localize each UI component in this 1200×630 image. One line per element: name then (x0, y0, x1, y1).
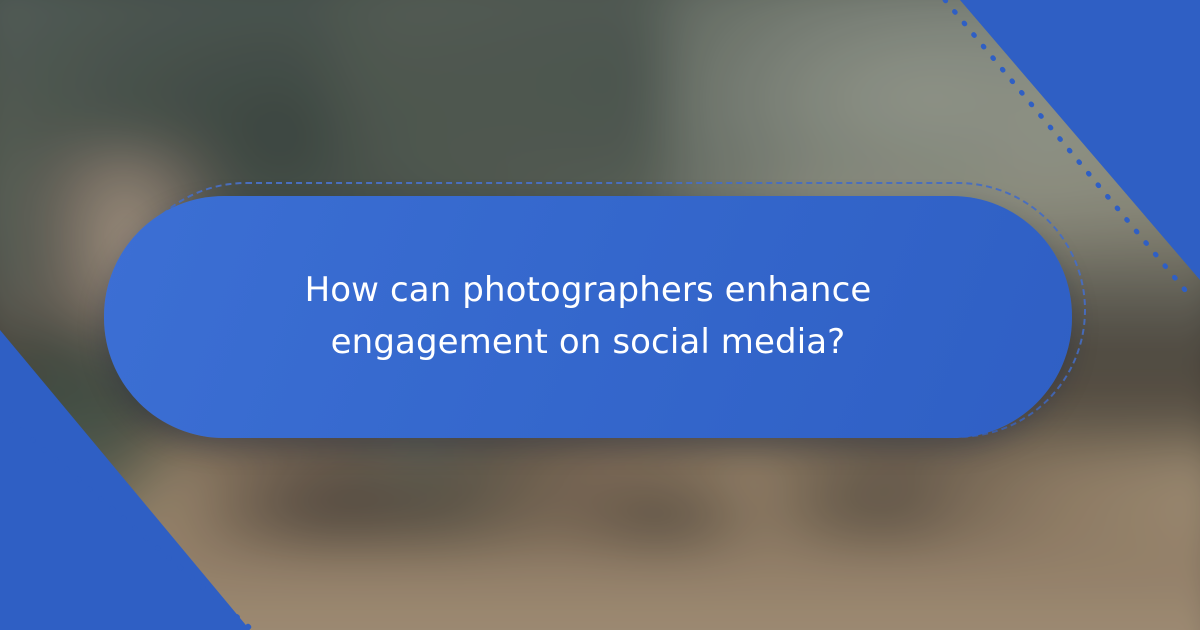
question-card: How can photographers enhance engagement… (104, 196, 1072, 438)
share-card-canvas: How can photographers enhance engagement… (0, 0, 1200, 630)
card-question-text: How can photographers enhance engagement… (278, 265, 898, 368)
